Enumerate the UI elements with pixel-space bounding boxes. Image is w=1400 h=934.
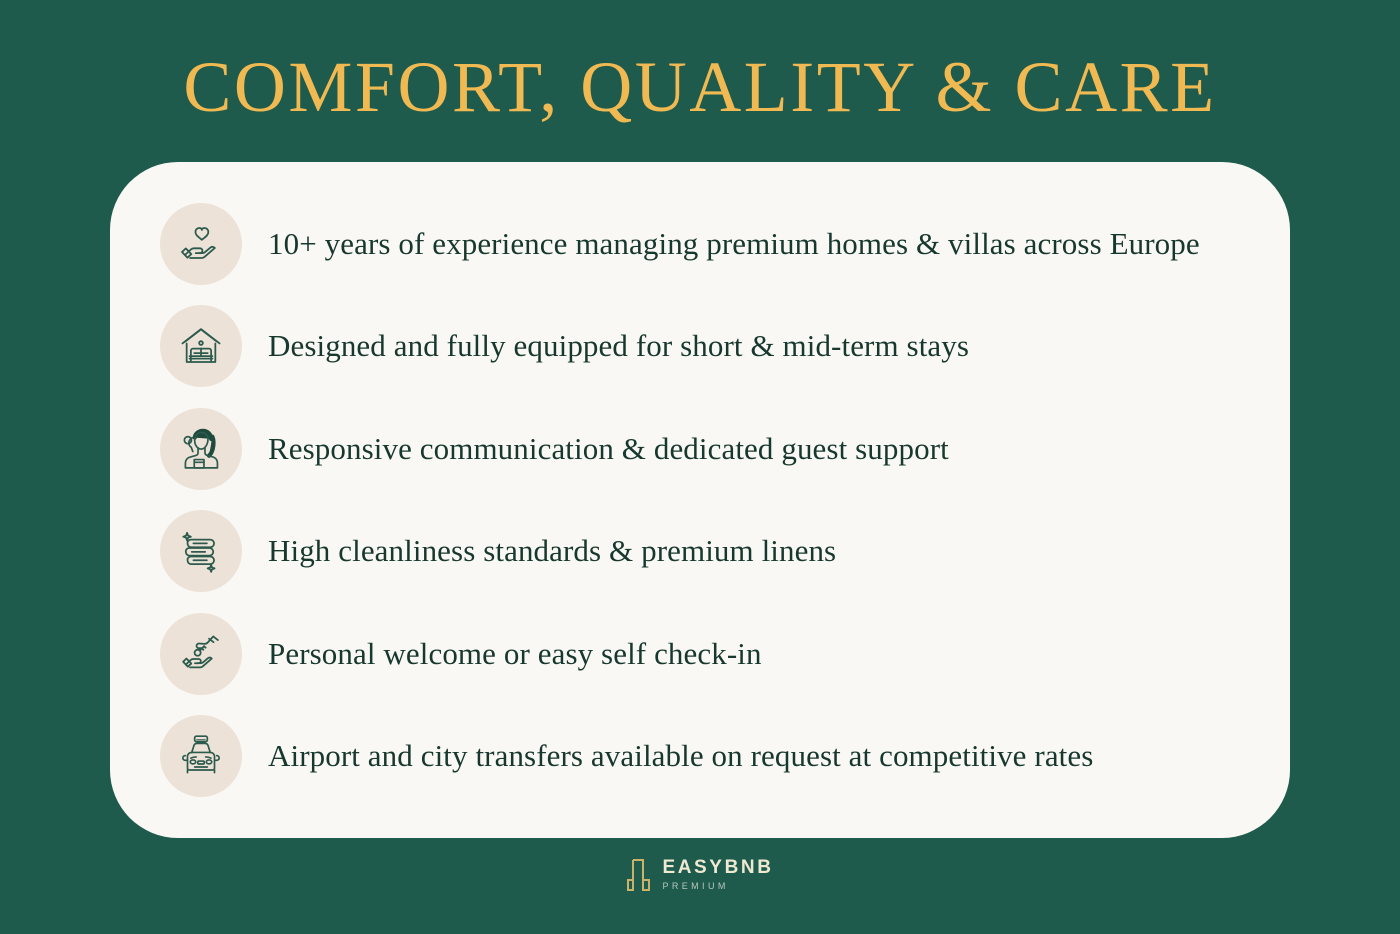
taxi-car-front-icon (160, 715, 242, 797)
feature-label: Responsive communication & dedicated gue… (268, 430, 949, 468)
key-handover-hands-icon (160, 613, 242, 695)
easybnb-building-mark-icon (626, 856, 652, 894)
feature-label: Personal welcome or easy self check-in (268, 635, 762, 673)
feature-row: Personal welcome or easy self check-in (156, 606, 1244, 702)
hand-holding-heart-icon (160, 203, 242, 285)
feature-label: Designed and fully equipped for short & … (268, 327, 969, 365)
features-card: 10+ years of experience managing premium… (110, 162, 1290, 838)
feature-label: Airport and city transfers available on … (268, 737, 1093, 775)
feature-row: Designed and fully equipped for short & … (156, 298, 1244, 394)
poster-canvas: COMFORT, QUALITY & CARE 10+ years of exp… (0, 0, 1400, 934)
stacked-folded-linens-sparkle-icon (160, 510, 242, 592)
feature-label: 10+ years of experience managing premium… (268, 225, 1200, 263)
brand-name: EASYBNB (662, 858, 773, 878)
footer-logo: EASYBNB PREMIUM (0, 856, 1400, 894)
brand-tagline: PREMIUM (662, 880, 773, 892)
woman-on-phone-support-icon (160, 408, 242, 490)
feature-row: High cleanliness standards & premium lin… (156, 503, 1244, 599)
house-with-bed-icon (160, 305, 242, 387)
feature-row: Responsive communication & dedicated gue… (156, 401, 1244, 497)
feature-row: Airport and city transfers available on … (156, 708, 1244, 804)
logo-wordmark: EASYBNB PREMIUM (662, 858, 773, 892)
feature-label: High cleanliness standards & premium lin… (268, 532, 836, 570)
page-title: COMFORT, QUALITY & CARE (0, 44, 1400, 130)
feature-row: 10+ years of experience managing premium… (156, 196, 1244, 292)
